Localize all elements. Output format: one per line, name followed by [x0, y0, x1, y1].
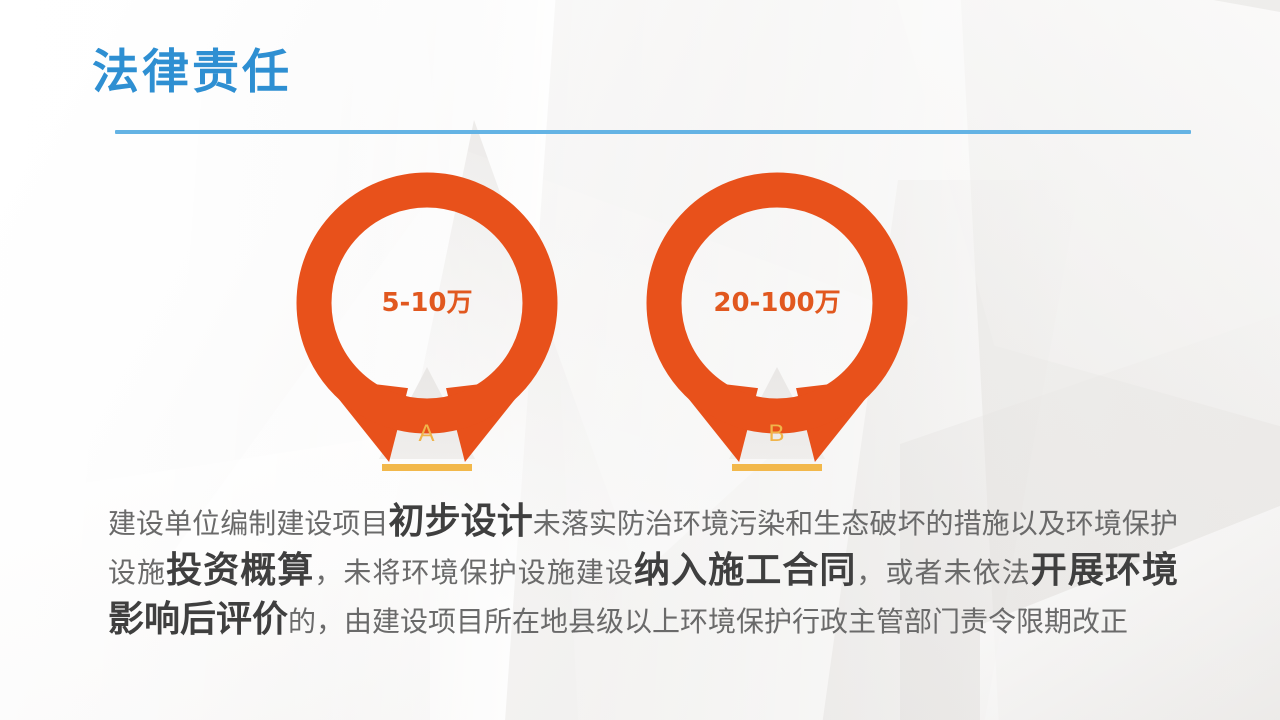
- paragraph-emphasis: 投资概算: [166, 549, 314, 591]
- pin-value-label: 20-100万: [646, 282, 908, 319]
- paragraph-text: ，或者未依法: [856, 556, 1030, 589]
- page-title: 法律责任: [92, 47, 292, 99]
- paragraph-emphasis: 初步设计: [389, 500, 533, 542]
- slide-canvas: 法律责任 5-10万 A 20-100万 B 建设单位编制建设项目初步设计未落实…: [0, 0, 1280, 720]
- paragraph-text: 的，由建设项目所在地县级以上环境保护行政主管部门责令限期改正: [288, 605, 1128, 638]
- paragraph-text: ，未将环境保护设施建设: [314, 556, 634, 589]
- pin-value-label: 5-10万: [296, 282, 558, 319]
- paragraph-emphasis: 纳入施工合同: [634, 549, 856, 591]
- body-paragraph: 建设单位编制建设项目初步设计未落实防治环境污染和生态破坏的措施以及环境保护设施投…: [108, 498, 1178, 645]
- pin-underline-bar: [732, 464, 822, 471]
- title-underline-rule: [115, 130, 1191, 134]
- pin-underline-bar: [382, 464, 472, 471]
- paragraph-text: 建设单位编制建设项目: [108, 507, 389, 540]
- pin-letter-label: B: [646, 420, 908, 448]
- pin-letter-label: A: [296, 420, 558, 448]
- pin-marker-b[interactable]: 20-100万 B: [646, 172, 908, 472]
- pin-marker-a[interactable]: 5-10万 A: [296, 172, 558, 472]
